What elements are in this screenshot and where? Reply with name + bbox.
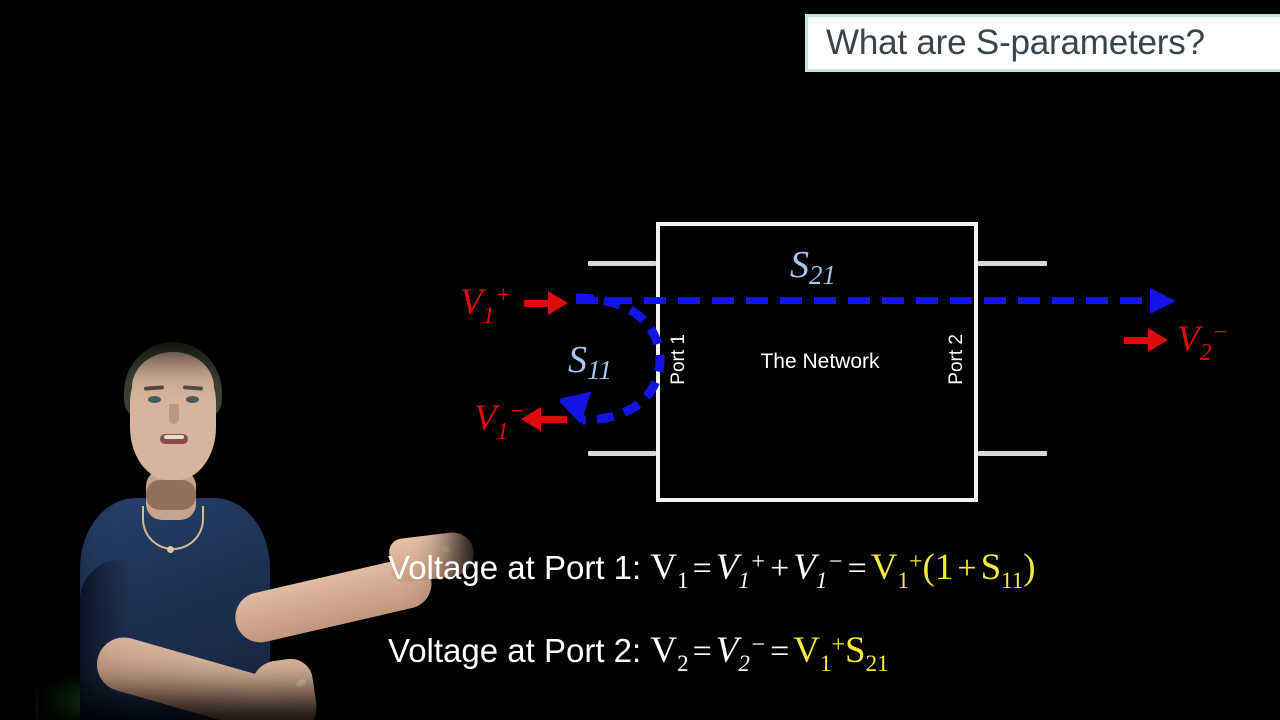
incident-arrow-head-icon bbox=[548, 291, 568, 315]
v2m-superscript: − bbox=[1212, 319, 1229, 346]
eq2-lhs-symbol: V bbox=[650, 630, 677, 671]
v1p-subscript: 1 bbox=[483, 303, 495, 329]
v2m-subscript: 2 bbox=[1200, 340, 1212, 366]
reflected-arrow-head-icon bbox=[521, 407, 541, 431]
eq1-result-v-superscript: + bbox=[909, 549, 923, 575]
eq2-result-v-superscript: + bbox=[832, 632, 846, 658]
eq1-lhs-symbol: V bbox=[650, 547, 677, 588]
equation-port-2: Voltage at Port 2: V2=V2−=V1+S21 bbox=[388, 629, 889, 677]
eq2-result-s-symbol: S bbox=[845, 630, 866, 671]
s21-label: S21 bbox=[790, 243, 836, 291]
s21-symbol: S bbox=[790, 244, 809, 286]
eq1-result-v-symbol: V bbox=[871, 547, 898, 588]
reflected-arrow-shaft bbox=[541, 416, 567, 423]
eq1-equals-2: = bbox=[844, 550, 871, 587]
incident-wave-label-port-1: V1+ bbox=[460, 281, 511, 330]
presenter-teeth bbox=[164, 435, 184, 439]
network-block-label: The Network bbox=[740, 350, 900, 374]
s11-symbol: S bbox=[568, 339, 587, 381]
eq1-result-open: (1 bbox=[923, 547, 954, 588]
eq1-equals-1: = bbox=[689, 550, 716, 587]
eq1-result-s-symbol: S bbox=[981, 547, 1002, 588]
transmitted-arrow-shaft bbox=[1124, 337, 1150, 344]
v1m-subscript: 1 bbox=[497, 419, 509, 445]
eq2-label: Voltage at Port 2: bbox=[388, 632, 650, 669]
eq1-term-b-superscript: − bbox=[827, 549, 843, 575]
slide-canvas: What are S-parameters? The Network Port bbox=[0, 0, 1280, 720]
port-2-top-lead bbox=[978, 261, 1047, 266]
eq1-label: Voltage at Port 1: bbox=[388, 549, 650, 586]
eq1-plus: + bbox=[766, 550, 793, 587]
transmitted-arrow-head-icon bbox=[1148, 328, 1168, 352]
title-banner: What are S-parameters? bbox=[805, 14, 1280, 72]
eq2-lhs-subscript: 2 bbox=[677, 651, 689, 676]
v1p-symbol: V bbox=[460, 282, 483, 323]
eq1-result-v-subscript: 1 bbox=[898, 568, 910, 593]
port-2-label: Port 2 bbox=[946, 334, 968, 385]
transmitted-wave-label-port-2: V2− bbox=[1177, 318, 1228, 367]
eq1-term-a-subscript: 1 bbox=[738, 568, 750, 593]
presenter-eye-right bbox=[186, 396, 199, 403]
v1m-symbol: V bbox=[474, 398, 497, 439]
eq2-result-v-subscript: 1 bbox=[820, 651, 832, 676]
equation-port-1: Voltage at Port 1: V1=V1++V1−=V1+(1+S11) bbox=[388, 546, 1036, 594]
v2m-symbol: V bbox=[1177, 319, 1200, 360]
eq1-result-close: ) bbox=[1023, 547, 1035, 588]
port-1-bottom-lead bbox=[588, 451, 656, 456]
presenter-eye-left bbox=[148, 396, 161, 403]
port-2-bottom-lead bbox=[978, 451, 1047, 456]
s21-arrowhead-icon bbox=[1150, 288, 1176, 314]
eq1-lhs-subscript: 1 bbox=[677, 568, 689, 593]
eq2-term-a-symbol: V bbox=[716, 630, 739, 671]
eq2-result-s-subscript: 21 bbox=[866, 651, 889, 676]
eq1-term-b-symbol: V bbox=[793, 547, 816, 588]
reflected-wave-label-port-1: V1− bbox=[474, 397, 525, 446]
eq2-equals-1: = bbox=[689, 633, 716, 670]
port-1-top-lead bbox=[588, 261, 656, 266]
s11-label: S11 bbox=[568, 338, 612, 386]
eq1-result-plus: + bbox=[953, 550, 980, 587]
presenter-nose bbox=[169, 404, 179, 424]
eq1-term-a-superscript: + bbox=[750, 549, 766, 575]
eq2-term-a-superscript: − bbox=[750, 632, 766, 658]
s11-subscript: 11 bbox=[587, 355, 612, 385]
eq1-term-a-symbol: V bbox=[716, 547, 739, 588]
incident-arrow-shaft bbox=[524, 300, 550, 307]
eq2-result-v-symbol: V bbox=[793, 630, 820, 671]
presenter-pendant bbox=[167, 546, 174, 553]
eq2-equals-2: = bbox=[766, 633, 793, 670]
page-title: What are S-parameters? bbox=[826, 23, 1205, 63]
eq1-result-s-subscript: 11 bbox=[1001, 568, 1023, 593]
s21-subscript: 21 bbox=[809, 260, 836, 290]
v1p-superscript: + bbox=[495, 282, 512, 309]
eq2-term-a-subscript: 2 bbox=[738, 651, 750, 676]
eq1-term-b-subscript: 1 bbox=[816, 568, 828, 593]
